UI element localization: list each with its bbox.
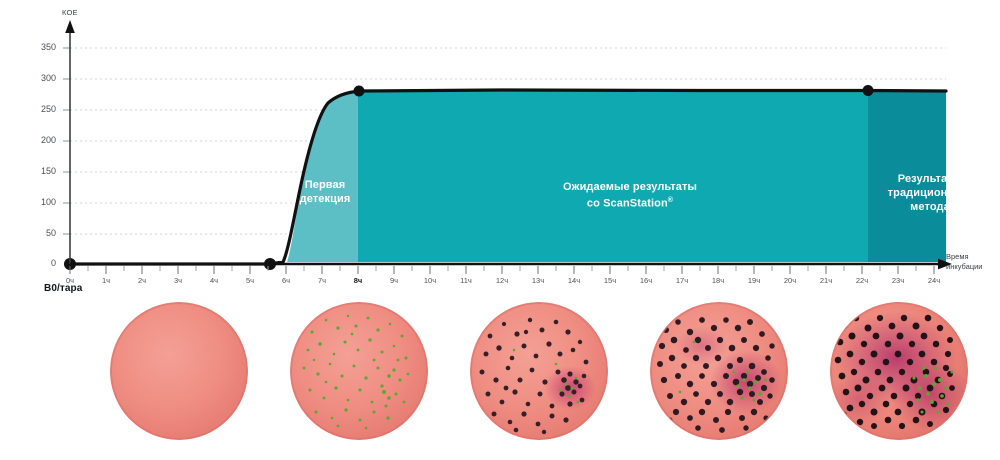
x-tick-label-24h: 24ч bbox=[917, 276, 951, 285]
x-tick-label-7h: 7ч bbox=[305, 276, 339, 285]
y-tick-label-300: 300 bbox=[22, 73, 56, 83]
x-tick-marks bbox=[70, 266, 934, 274]
petri-dish-2 bbox=[290, 302, 428, 440]
x-tick-label-15h: 15ч bbox=[593, 276, 627, 285]
x-tick-label-21h: 21ч bbox=[809, 276, 843, 285]
band-label-scanstation-line2: со ScanStation® bbox=[480, 194, 780, 211]
band-label-scanstation: Ожидаемые результаты со ScanStation® bbox=[480, 180, 780, 211]
petri-dish-5 bbox=[830, 302, 968, 440]
registered-trademark-icon: ® bbox=[668, 197, 673, 204]
infographic-root: КОЕ 350 300 250 200 150 100 50 0 0ч 1ч 2… bbox=[0, 0, 1000, 460]
x-tick-label-2h: 2ч bbox=[125, 276, 159, 285]
x-tick-label-6h: 6ч bbox=[269, 276, 303, 285]
x-tick-label-14h: 14ч bbox=[557, 276, 591, 285]
petri-dish-1 bbox=[110, 302, 248, 440]
x-tick-label-17h: 17ч bbox=[665, 276, 699, 285]
y-tick-label-50: 50 bbox=[22, 228, 56, 238]
x-tick-label-5h: 5ч bbox=[233, 276, 267, 285]
y-tick-label-100: 100 bbox=[22, 197, 56, 207]
x-tick-label-10h: 10ч bbox=[413, 276, 447, 285]
x-tick-label-16h: 16ч bbox=[629, 276, 663, 285]
band-scanstation bbox=[358, 91, 868, 265]
x-tick-label-18h: 18ч bbox=[701, 276, 735, 285]
band-label-scanstation-line1: Ожидаемые результаты bbox=[480, 180, 780, 194]
band-label-first-detection-line1: Первая bbox=[282, 178, 368, 192]
petri-dish-row bbox=[0, 296, 1000, 460]
band-label-traditional-line3: метода bbox=[878, 200, 982, 214]
marker-22h bbox=[863, 85, 874, 96]
x-tick-label-12h: 12ч bbox=[485, 276, 519, 285]
x-axis-title: Время инкубации bbox=[946, 252, 1000, 271]
x-tick-label-3h: 3ч bbox=[161, 276, 195, 285]
y-tick-label-200: 200 bbox=[22, 135, 56, 145]
x-axis-title-line1: Время bbox=[946, 252, 1000, 262]
band-label-traditional-line1: Результаты bbox=[878, 172, 982, 186]
y-tick-label-250: 250 bbox=[22, 104, 56, 114]
y-tick-label-150: 150 bbox=[22, 166, 56, 176]
x-tick-label-22h: 22ч bbox=[845, 276, 879, 285]
chart-canvas bbox=[0, 0, 1000, 300]
growth-chart: КОЕ 350 300 250 200 150 100 50 0 0ч 1ч 2… bbox=[0, 0, 1000, 300]
y-tick-marks bbox=[63, 48, 70, 234]
band-label-first-detection-line2: детекция bbox=[282, 192, 368, 206]
x-tick-label-20h: 20ч bbox=[773, 276, 807, 285]
band-label-traditional: Результаты традиционного метода bbox=[878, 172, 982, 214]
band-label-first-detection: Первая детекция bbox=[282, 178, 368, 206]
x-tick-label-13h: 13ч bbox=[521, 276, 555, 285]
x-tick-label-19h: 19ч bbox=[737, 276, 771, 285]
x-tick-label-11h: 11ч bbox=[449, 276, 483, 285]
band-label-scanstation-text: со ScanStation bbox=[587, 198, 668, 210]
y-tick-label-0: 0 bbox=[22, 258, 56, 268]
x-tick-label-4h: 4ч bbox=[197, 276, 231, 285]
x-tick-label-9h: 9ч bbox=[377, 276, 411, 285]
y-axis-title: КОЕ bbox=[62, 8, 78, 17]
origin-label: B0/тара bbox=[44, 283, 82, 294]
petri-dish-3 bbox=[470, 302, 608, 440]
band-label-traditional-line2: традиционного bbox=[878, 186, 982, 200]
x-tick-label-1h: 1ч bbox=[89, 276, 123, 285]
x-tick-label-8h: 8ч bbox=[341, 276, 375, 285]
y-axis-arrow bbox=[65, 20, 75, 33]
marker-8h bbox=[354, 86, 365, 97]
y-tick-label-350: 350 bbox=[22, 42, 56, 52]
x-axis-title-line2: инкубации bbox=[946, 262, 1000, 272]
petri-dish-4 bbox=[650, 302, 788, 440]
x-tick-label-23h: 23ч bbox=[881, 276, 915, 285]
